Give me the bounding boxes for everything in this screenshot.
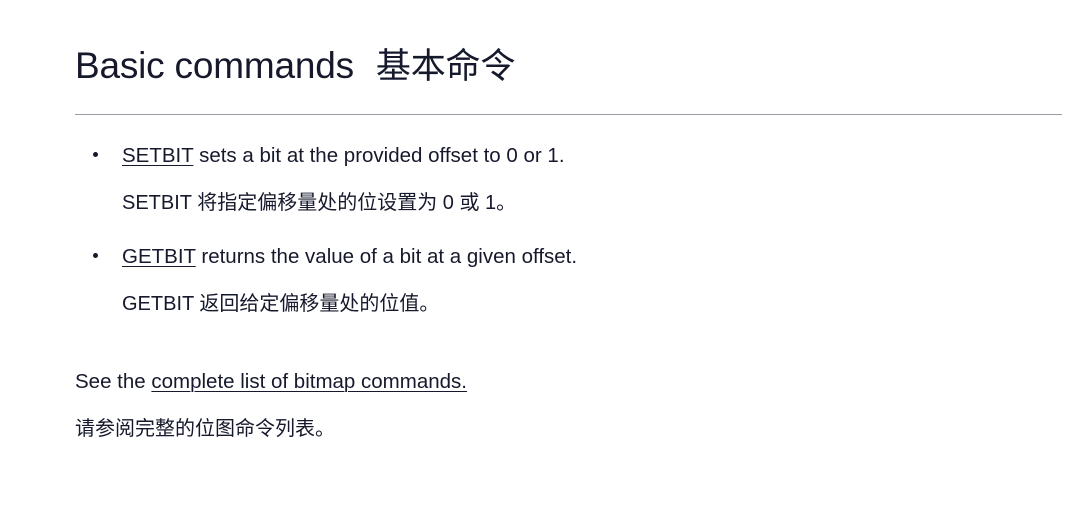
list-item: SETBIT sets a bit at the provided offset… xyxy=(75,141,997,218)
list-item: GETBIT returns the value of a bit at a g… xyxy=(75,242,997,319)
see-also-line-en: See the complete list of bitmap commands… xyxy=(75,367,997,396)
getbit-description-en: returns the value of a bit at a given of… xyxy=(196,245,577,268)
page-title: Basic commands基本命令 xyxy=(75,0,997,91)
bullet-dot-icon xyxy=(93,253,98,258)
see-also-prefix: See the xyxy=(75,370,151,393)
page-title-zh: 基本命令 xyxy=(376,47,515,86)
bitmap-commands-list-link[interactable]: complete list of bitmap commands. xyxy=(151,370,467,393)
command-line-en: GETBIT returns the value of a bit at a g… xyxy=(122,242,997,271)
see-also-section: See the complete list of bitmap commands… xyxy=(75,367,997,444)
title-divider xyxy=(75,114,1062,115)
see-also-line-zh: 请参阅完整的位图命令列表。 xyxy=(75,415,997,444)
setbit-description-zh: SETBIT 将指定偏移量处的位设置为 0 或 1。 xyxy=(122,189,997,218)
command-line-en: SETBIT sets a bit at the provided offset… xyxy=(122,141,997,170)
page-title-en: Basic commands xyxy=(75,45,354,86)
setbit-description-en: sets a bit at the provided offset to 0 o… xyxy=(193,144,564,167)
setbit-command-link[interactable]: SETBIT xyxy=(122,144,193,167)
commands-list: SETBIT sets a bit at the provided offset… xyxy=(75,141,997,319)
getbit-command-link[interactable]: GETBIT xyxy=(122,245,196,268)
getbit-description-zh: GETBIT 返回给定偏移量处的位值。 xyxy=(122,290,997,319)
bullet-dot-icon xyxy=(93,152,98,157)
document-page: Basic commands基本命令 SETBIT sets a bit at … xyxy=(0,0,1072,524)
